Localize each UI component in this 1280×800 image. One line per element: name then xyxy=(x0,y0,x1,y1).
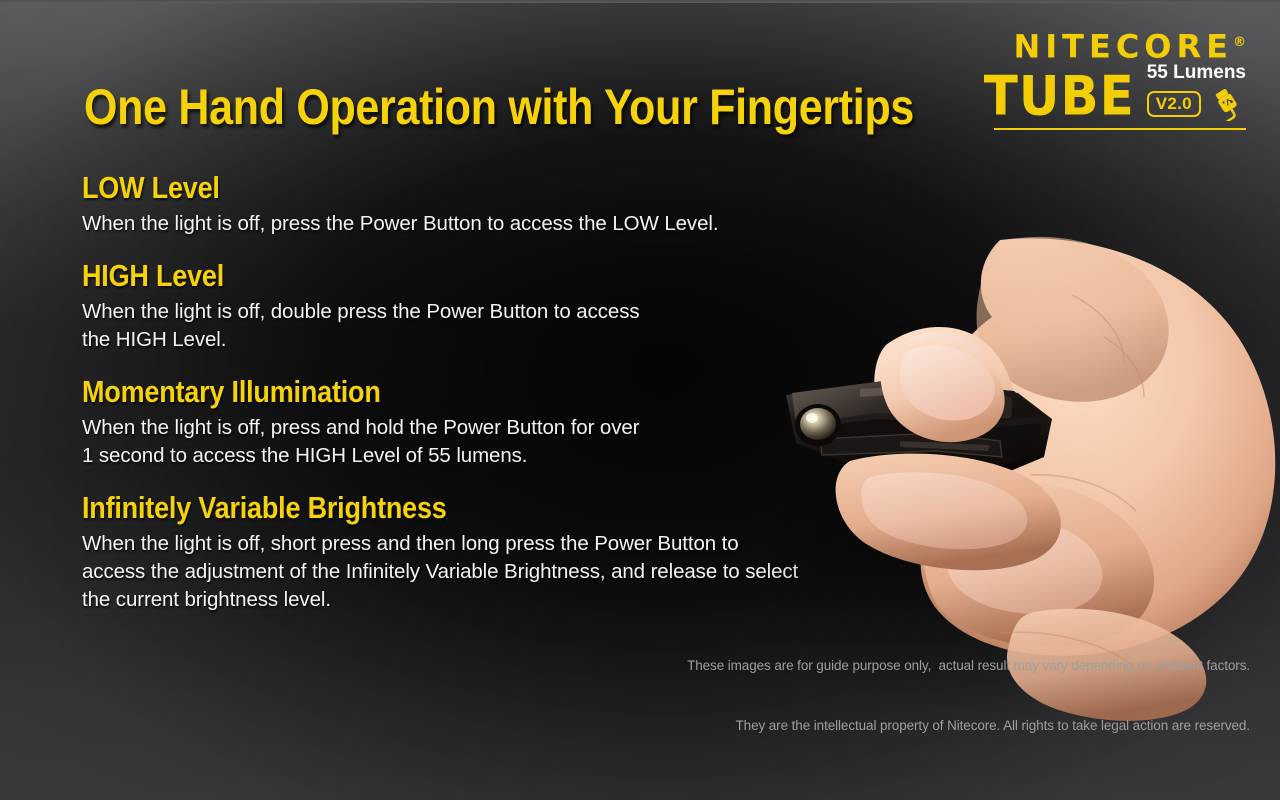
model-row: TUBE 55 Lumens V2.0 xyxy=(978,67,1246,123)
lens-highlight xyxy=(806,413,818,423)
section-title: LOW Level xyxy=(82,170,942,206)
registered-trademark-icon: ® xyxy=(1233,35,1246,50)
nitecore-wordmark: NITECORE® xyxy=(978,26,1246,64)
version-badge: V2.0 xyxy=(1147,91,1201,117)
model-name: TUBE xyxy=(984,69,1135,123)
disclaimer-line-2: They are the intellectual property of Ni… xyxy=(687,716,1250,736)
nitecore-wordmark-text: NITECORE xyxy=(1013,28,1233,66)
version-row: V2.0 xyxy=(1147,87,1245,121)
usb-plug-icon xyxy=(1211,87,1245,121)
flashlight-lens xyxy=(800,408,836,440)
brand-underline xyxy=(994,128,1246,130)
brand-block: NITECORE® TUBE 55 Lumens V2.0 xyxy=(978,26,1246,130)
product-infographic: NITECORE® TUBE 55 Lumens V2.0 xyxy=(0,0,1280,800)
top-edge-line xyxy=(0,0,1280,3)
disclaimer-line-1: These images are for guide purpose only,… xyxy=(687,656,1250,676)
model-meta: 55 Lumens V2.0 xyxy=(1147,62,1246,123)
page-title: One Hand Operation with Your Fingertips xyxy=(84,79,914,137)
disclaimer: These images are for guide purpose only,… xyxy=(687,616,1250,776)
